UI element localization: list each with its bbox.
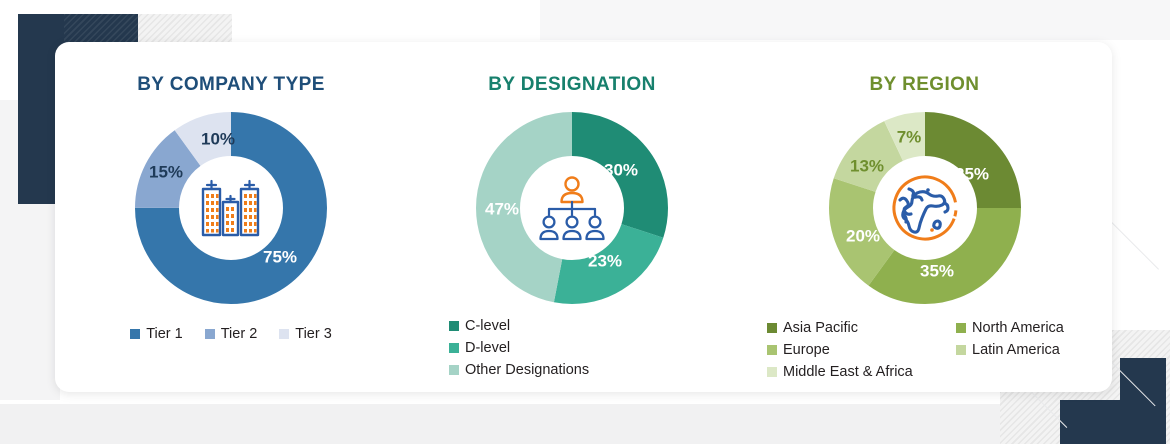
legend-swatch-tier-2: [205, 329, 215, 339]
legend-company-type: Tier 1 Tier 2 Tier 3: [130, 326, 332, 342]
office-buildings-icon: [194, 171, 268, 245]
legend-swatch-europe: [767, 345, 777, 355]
legend-label-middle-east-africa: Middle East & Africa: [783, 364, 913, 380]
legend-label-c-level: C-level: [465, 318, 510, 334]
legend-item-tier-1[interactable]: Tier 1: [130, 326, 183, 342]
donut-label-tier-3: 10%: [201, 129, 235, 148]
globe-icon: [886, 169, 964, 247]
chart-title-company-type: BY COMPANY TYPE: [137, 74, 325, 96]
legend-item-c-level[interactable]: C-level: [449, 318, 589, 334]
legend-label-tier-1: Tier 1: [146, 326, 183, 342]
bg-strip-top-right: [540, 0, 1170, 40]
legend-label-tier-3: Tier 3: [295, 326, 332, 342]
legend-swatch-d-level: [449, 343, 459, 353]
legend-item-europe[interactable]: Europe: [767, 342, 942, 358]
legend-swatch-c-level: [449, 321, 459, 331]
chart-panel-region: BY REGION 25% 35% 20% 13%: [737, 42, 1112, 392]
donut-label-europe: 20%: [845, 226, 879, 245]
legend-item-middle-east-africa[interactable]: Middle East & Africa: [767, 364, 942, 380]
legend-region: Asia Pacific North America Europe Latin …: [767, 320, 1064, 380]
donut-label-other-designations: 47%: [485, 199, 519, 218]
donut-label-latin-america: 13%: [849, 156, 883, 175]
legend-swatch-tier-1: [130, 329, 140, 339]
legend-swatch-other-designations: [449, 365, 459, 375]
legend-item-latin-america[interactable]: Latin America: [956, 342, 1064, 358]
legend-item-tier-2[interactable]: Tier 2: [205, 326, 258, 342]
legend-item-other-designations[interactable]: Other Designations: [449, 362, 589, 378]
donut-label-tier-2: 15%: [149, 162, 183, 181]
legend-item-d-level[interactable]: D-level: [449, 340, 589, 356]
donut-chart-region: 25% 35% 20% 13% 7%: [827, 110, 1023, 306]
donut-chart-designation: 30% 23% 47%: [474, 110, 670, 306]
legend-label-d-level: D-level: [465, 340, 510, 356]
donut-label-d-level: 23%: [588, 251, 622, 270]
organization-chart-icon: [534, 173, 610, 243]
legend-swatch-asia-pacific: [767, 323, 777, 333]
legend-item-north-america[interactable]: North America: [956, 320, 1064, 336]
bg-strip-bottom: [0, 404, 1010, 444]
donut-label-tier-1: 75%: [263, 247, 297, 266]
chart-title-designation: BY DESIGNATION: [488, 74, 655, 96]
legend-swatch-tier-3: [279, 329, 289, 339]
legend-label-europe: Europe: [783, 342, 830, 358]
legend-label-other-designations: Other Designations: [465, 362, 589, 378]
legend-swatch-latin-america: [956, 345, 966, 355]
legend-label-asia-pacific: Asia Pacific: [783, 320, 858, 336]
infographic-card: BY COMPANY TYPE 75% 15% 10%: [55, 42, 1112, 392]
legend-swatch-north-america: [956, 323, 966, 333]
chart-panel-company-type: BY COMPANY TYPE 75% 15% 10%: [55, 42, 407, 392]
legend-designation: C-level D-level Other Designations: [449, 318, 589, 378]
legend-label-latin-america: Latin America: [972, 342, 1060, 358]
donut-label-asia-pacific: 35%: [919, 261, 953, 280]
legend-item-tier-3[interactable]: Tier 3: [279, 326, 332, 342]
legend-swatch-middle-east-africa: [767, 367, 777, 377]
legend-label-tier-2: Tier 2: [221, 326, 258, 342]
chart-title-region: BY REGION: [870, 74, 980, 96]
bg-navy-bar-right: [1120, 358, 1166, 444]
donut-label-middle-east-africa: 7%: [896, 127, 921, 146]
legend-item-asia-pacific[interactable]: Asia Pacific: [767, 320, 942, 336]
legend-label-north-america: North America: [972, 320, 1064, 336]
chart-panel-designation: BY DESIGNATION 30% 23% 47%: [407, 42, 737, 392]
donut-chart-company-type: 75% 15% 10%: [133, 110, 329, 306]
